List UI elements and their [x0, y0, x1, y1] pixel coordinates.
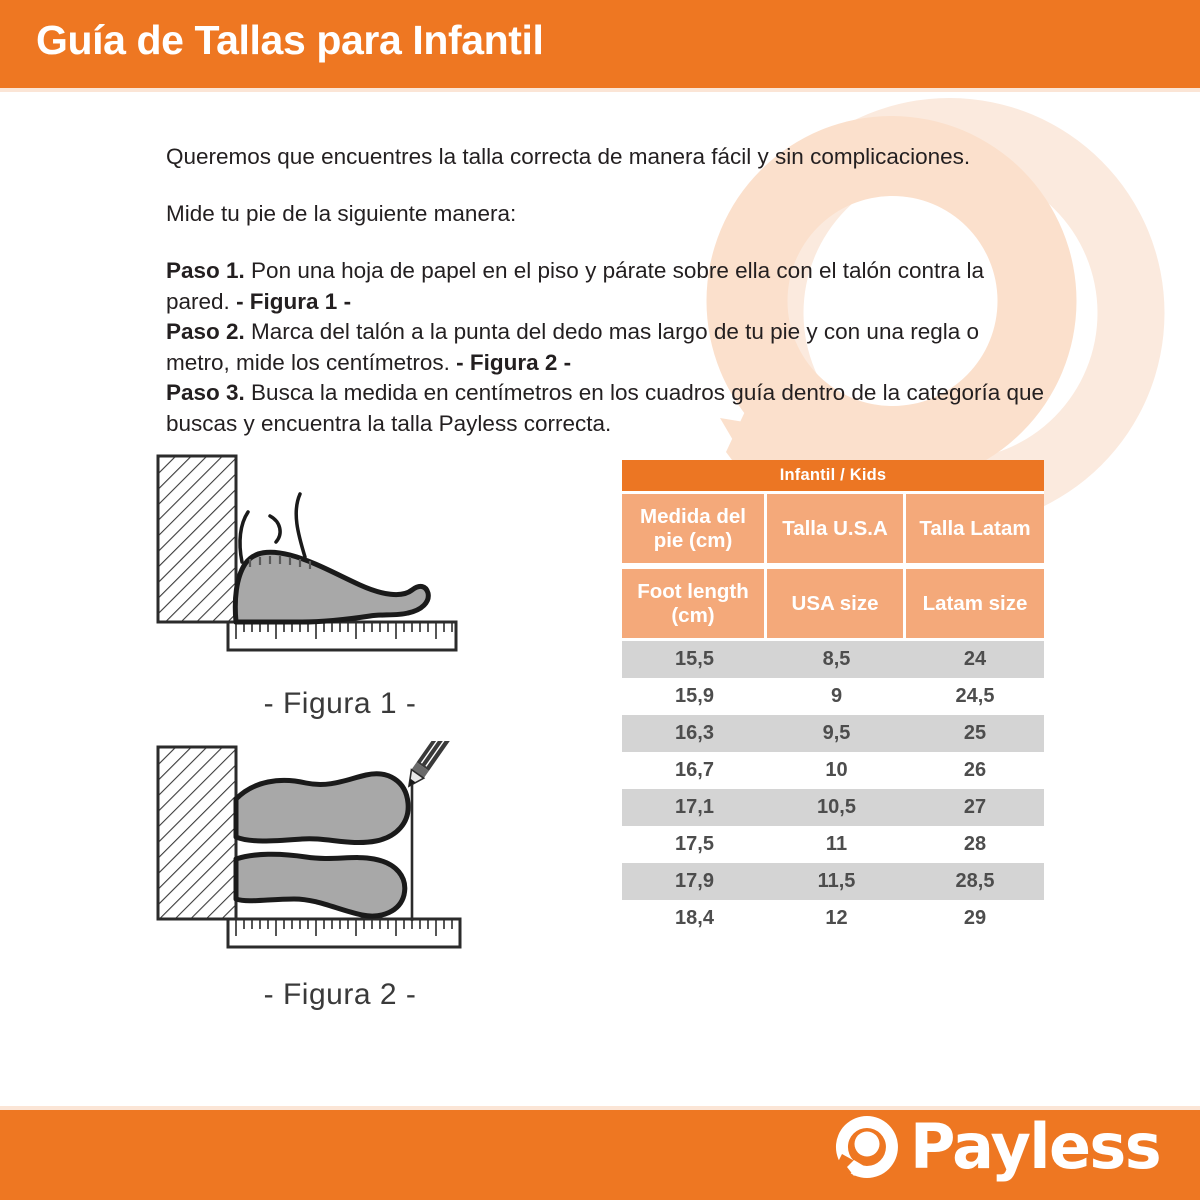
steps-list: Paso 1. Pon una hoja de papel en el piso… [166, 256, 1046, 439]
cell-usa-size: 9 [767, 678, 906, 715]
cell-foot-length: 17,1 [622, 789, 767, 826]
page-title: Guía de Tallas para Infantil [36, 17, 544, 64]
payless-wordmark: Payless [910, 1116, 1160, 1178]
cell-latam-size: 29 [906, 900, 1044, 937]
intro-line-1: Queremos que encuentres la talla correct… [166, 142, 1046, 172]
header-latam-size-en: Latam size [906, 566, 1044, 641]
table-row: 17,1 10,5 27 [622, 789, 1044, 826]
table-title-row: Infantil / Kids [622, 460, 1044, 491]
figure-1-illustration [150, 450, 480, 680]
cell-latam-size: 28 [906, 826, 1044, 863]
header-foot-length-es-line1: Medida del [622, 505, 764, 529]
cell-latam-size: 27 [906, 789, 1044, 826]
figure-2-illustration [150, 741, 480, 971]
cell-usa-size: 11,5 [767, 863, 906, 900]
step-2: Paso 2. Marca del talón a la punta del d… [166, 317, 1046, 378]
size-chart-table: Infantil / Kids Medida del pie (cm) Tall… [622, 460, 1044, 937]
table-title: Infantil / Kids [622, 460, 1044, 491]
table-row: 16,7 10 26 [622, 752, 1044, 789]
cell-usa-size: 12 [767, 900, 906, 937]
payless-circle-mark-icon [834, 1114, 900, 1180]
header-foot-length-en-line2: (cm) [622, 604, 764, 628]
size-chart-table-wrapper: Infantil / Kids Medida del pie (cm) Tall… [622, 460, 1044, 937]
cell-usa-size: 11 [767, 826, 906, 863]
table-head: Infantil / Kids Medida del pie (cm) Tall… [622, 460, 1044, 641]
cell-latam-size: 25 [906, 715, 1044, 752]
cell-foot-length: 17,9 [622, 863, 767, 900]
header-foot-length-es: Medida del pie (cm) [622, 491, 767, 566]
step-1: Paso 1. Pon una hoja de papel en el piso… [166, 256, 1046, 317]
payless-logo: Payless [834, 1114, 1160, 1180]
table-body: 15,5 8,5 24 15,9 9 24,5 16,3 9,5 25 16,7… [622, 641, 1044, 937]
step-3-text: Busca la medida en centímetros en los cu… [166, 380, 1044, 436]
cell-usa-size: 8,5 [767, 641, 906, 678]
cell-foot-length: 18,4 [622, 900, 767, 937]
table-header-row-en: Foot length (cm) USA size Latam size [622, 566, 1044, 641]
header-usa-size-en: USA size [767, 566, 906, 641]
table-row: 17,5 11 28 [622, 826, 1044, 863]
figure-2: - Figura 2 - [150, 741, 530, 1012]
header-latam-size-es: Talla Latam [906, 491, 1044, 566]
cell-latam-size: 24 [906, 641, 1044, 678]
figure-2-caption: - Figura 2 - [150, 978, 530, 1012]
table-row: 15,5 8,5 24 [622, 641, 1044, 678]
figure-1-caption: - Figura 1 - [150, 687, 530, 721]
step-2-text: Marca del talón a la punta del dedo mas … [166, 319, 979, 375]
table-row: 15,9 9 24,5 [622, 678, 1044, 715]
header-foot-length-en: Foot length (cm) [622, 566, 767, 641]
cell-usa-size: 10 [767, 752, 906, 789]
cell-usa-size: 9,5 [767, 715, 906, 752]
header-foot-length-en-line1: Foot length [622, 580, 764, 604]
figure-1: - Figura 1 - [150, 450, 530, 721]
figures-column: - Figura 1 - [150, 450, 530, 1012]
table-row: 17,9 11,5 28,5 [622, 863, 1044, 900]
cell-foot-length: 15,9 [622, 678, 767, 715]
main-content: Queremos que encuentres la talla correct… [0, 92, 1200, 1110]
step-3: Paso 3. Busca la medida en centímetros e… [166, 378, 1046, 439]
table-row: 18,4 12 29 [622, 900, 1044, 937]
step-1-figure-ref: - Figura 1 - [236, 289, 351, 314]
step-3-label: Paso 3. [166, 380, 245, 405]
step-1-label: Paso 1. [166, 258, 245, 283]
cell-foot-length: 16,3 [622, 715, 767, 752]
step-2-figure-ref: - Figura 2 - [456, 350, 571, 375]
header-usa-size-es: Talla U.S.A [767, 491, 906, 566]
table-row: 16,3 9,5 25 [622, 715, 1044, 752]
cell-foot-length: 15,5 [622, 641, 767, 678]
header-bar: Guía de Tallas para Infantil [0, 0, 1200, 88]
header-foot-length-es-line2: pie (cm) [622, 529, 764, 553]
cell-foot-length: 17,5 [622, 826, 767, 863]
cell-latam-size: 24,5 [906, 678, 1044, 715]
cell-latam-size: 26 [906, 752, 1044, 789]
cell-latam-size: 28,5 [906, 863, 1044, 900]
cell-foot-length: 16,7 [622, 752, 767, 789]
intro-line-2: Mide tu pie de la siguiente manera: [166, 199, 1046, 229]
cell-usa-size: 10,5 [767, 789, 906, 826]
intro-text-block: Queremos que encuentres la talla correct… [166, 142, 1046, 439]
table-header-row-es: Medida del pie (cm) Talla U.S.A Talla La… [622, 491, 1044, 566]
step-2-label: Paso 2. [166, 319, 245, 344]
